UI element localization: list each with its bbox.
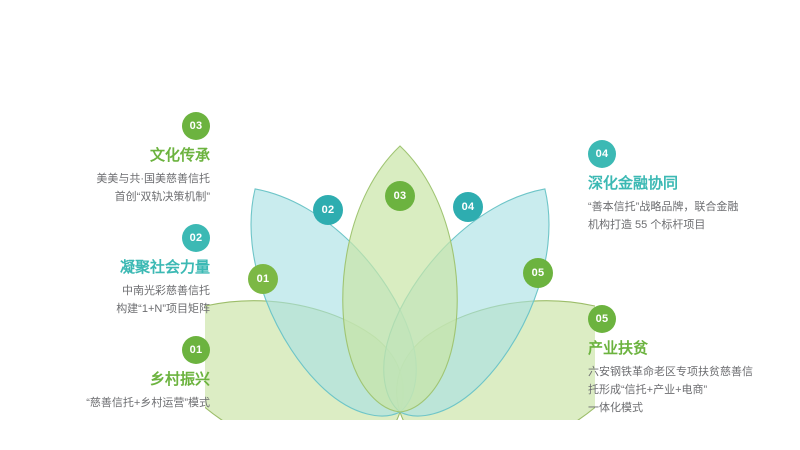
info-body-01: “慈善信托+乡村运营”模式 [20, 394, 210, 412]
info-badge-01[interactable]: 01 [182, 336, 210, 364]
info-block-02: 02 凝聚社会力量 中南光彩慈善信托 构建“1+N”项目矩阵 [20, 224, 210, 318]
petal-badge-01[interactable]: 01 [248, 264, 278, 294]
info-title-05: 产业扶贫 [588, 340, 793, 358]
petal-badge-03[interactable]: 03 [385, 181, 415, 211]
info-body-03: 美美与共·国美慈善信托 首创“双轨决策机制” [20, 170, 210, 206]
info-badge-05[interactable]: 05 [588, 305, 616, 333]
info-title-04: 深化金融协同 [588, 175, 793, 193]
info-badge-04[interactable]: 04 [588, 140, 616, 168]
info-block-01: 01 乡村振兴 “慈善信托+乡村运营”模式 [20, 336, 210, 412]
info-block-03: 03 文化传承 美美与共·国美慈善信托 首创“双轨决策机制” [20, 112, 210, 206]
info-body-04: “善本信托”战略品牌，联合金融 机构打造 55 个标杆项目 [588, 198, 793, 234]
petal-badge-02[interactable]: 02 [313, 195, 343, 225]
info-title-02: 凝聚社会力量 [20, 259, 210, 277]
info-badge-02[interactable]: 02 [182, 224, 210, 252]
info-title-03: 文化传承 [20, 147, 210, 165]
info-block-04: 04 深化金融协同 “善本信托”战略品牌，联合金融 机构打造 55 个标杆项目 [588, 140, 793, 234]
info-badge-03[interactable]: 03 [182, 112, 210, 140]
info-block-05: 05 产业扶贫 六安钢铁革命老区专项扶贫慈善信 托形成“信托+产业+电商” 一体… [588, 305, 793, 417]
info-body-05: 六安钢铁革命老区专项扶贫慈善信 托形成“信托+产业+电商” 一体化模式 [588, 363, 793, 417]
info-title-01: 乡村振兴 [20, 371, 210, 389]
info-body-02: 中南光彩慈善信托 构建“1+N”项目矩阵 [20, 282, 210, 318]
petal-badge-05[interactable]: 05 [523, 258, 553, 288]
petal-badge-04[interactable]: 04 [453, 192, 483, 222]
